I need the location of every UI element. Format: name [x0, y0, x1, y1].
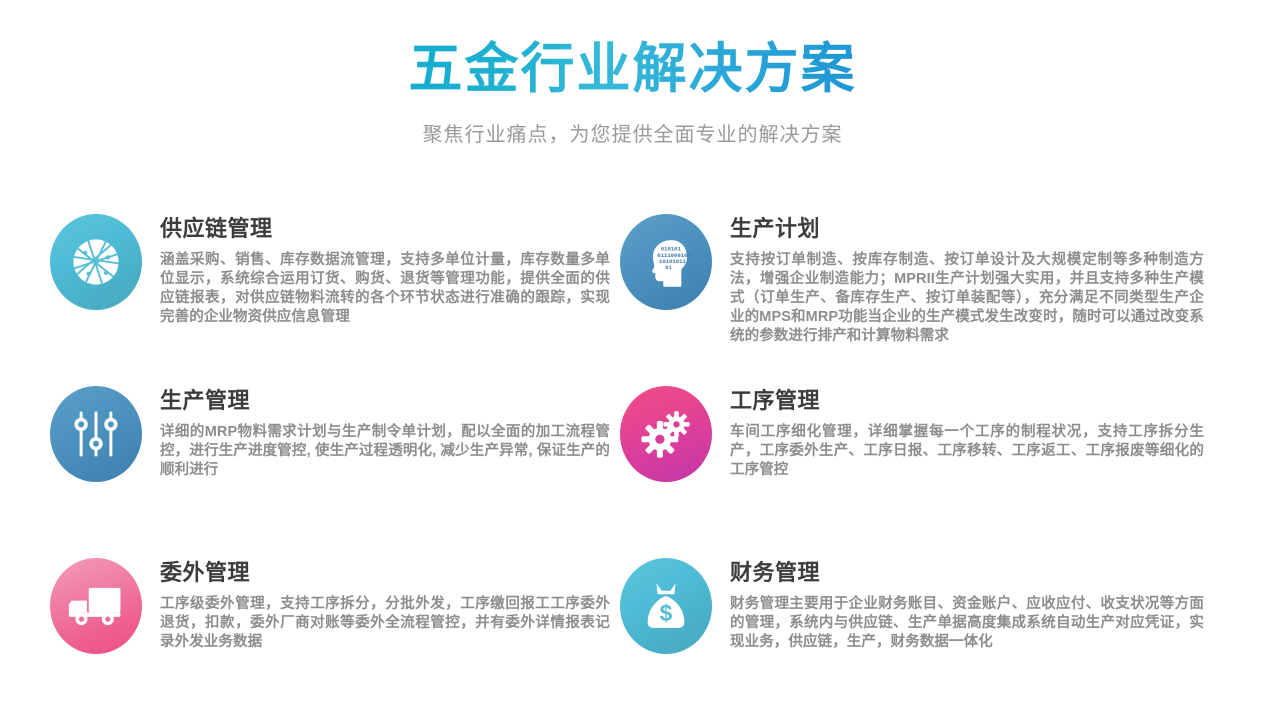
- page-subtitle: 聚焦行业痛点，为您提供全面专业的解决方案: [0, 118, 1265, 147]
- sliders-icon: [50, 386, 142, 482]
- card-body: 供应链管理 涵盖采购、销售、库存数据流管理，支持多单位计量，库存数量多单位显示，…: [142, 210, 610, 327]
- svg-text:10101011: 10101011: [659, 258, 686, 265]
- card-title: 财务管理: [730, 560, 1204, 586]
- solution-card-process-mgmt[interactable]: 工序管理 车间工序细化管理，详细掌握每一个工序的制程状况，支持工序拆分生产，工序…: [620, 368, 1235, 540]
- card-body: 财务管理 财务管理主要用于企业财务账目、资金账户、应收应付、收支状况等方面的管理…: [712, 554, 1204, 652]
- solution-card-supply-chain[interactable]: 供应链管理 涵盖采购、销售、库存数据流管理，支持多单位计量，库存数量多单位显示，…: [0, 196, 610, 368]
- card-title: 工序管理: [730, 388, 1204, 414]
- card-body: 生产计划 支持按订单制造、按库存制造、按订单设计及大规模定制等多种制造方法，增强…: [712, 210, 1204, 346]
- card-description: 车间工序细化管理，详细掌握每一个工序的制程状况，支持工序拆分生产，工序委外生产、…: [730, 423, 1204, 480]
- card-body: 工序管理 车间工序细化管理，详细掌握每一个工序的制程状况，支持工序拆分生产，工序…: [712, 382, 1204, 480]
- card-description: 详细的MRP物料需求计划与生产制令单计划，配以全面的加工流程管控，进行生产进度管…: [160, 423, 610, 480]
- svg-text:01: 01: [665, 264, 672, 271]
- head-binary-icon: 010101 0111000101 10101011 01: [620, 214, 712, 310]
- svg-text:$: $: [660, 600, 673, 626]
- card-description: 支持按订单制造、按库存制造、按订单设计及大规模定制等多种制造方法，增强企业制造能…: [730, 251, 1204, 346]
- solution-card-outsourcing[interactable]: 委外管理 工序级委外管理，支持工序拆分，分批外发，工序缴回报工工序委外退货，扣款…: [0, 540, 610, 710]
- slide-header: 五金行业解决方案 聚焦行业痛点，为您提供全面专业的解决方案: [0, 0, 1265, 147]
- solution-card-grid: 供应链管理 涵盖采购、销售、库存数据流管理，支持多单位计量，库存数量多单位显示，…: [0, 196, 1265, 710]
- card-body: 委外管理 工序级委外管理，支持工序拆分，分批外发，工序缴回报工工序委外退货，扣款…: [142, 554, 610, 652]
- gears-icon: [620, 386, 712, 482]
- card-description: 工序级委外管理，支持工序拆分，分批外发，工序缴回报工工序委外退货，扣款，委外厂商…: [160, 595, 610, 652]
- solution-card-production-mgmt[interactable]: 生产管理 详细的MRP物料需求计划与生产制令单计划，配以全面的加工流程管控，进行…: [0, 368, 610, 540]
- card-description: 财务管理主要用于企业财务账目、资金账户、应收应付、收支状况等方面的管理，系统内与…: [730, 595, 1204, 652]
- card-title: 供应链管理: [160, 216, 610, 242]
- card-body: 生产管理 详细的MRP物料需求计划与生产制令单计划，配以全面的加工流程管控，进行…: [142, 382, 610, 480]
- solution-card-production-plan[interactable]: 010101 0111000101 10101011 01 生产计划 支持按订单…: [620, 196, 1235, 368]
- card-description: 涵盖采购、销售、库存数据流管理，支持多单位计量，库存数量多单位显示，系统综合运用…: [160, 251, 610, 327]
- solution-card-finance[interactable]: $ 财务管理 财务管理主要用于企业财务账目、资金账户、应收应付、收支状况等方面的…: [620, 540, 1235, 710]
- page-title: 五金行业解决方案: [409, 38, 857, 100]
- money-bag-icon: $: [620, 558, 712, 654]
- network-globe-icon: [50, 214, 142, 310]
- card-title: 委外管理: [160, 560, 610, 586]
- truck-icon: [50, 558, 142, 654]
- slide-root: 五金行业解决方案 聚焦行业痛点，为您提供全面专业的解决方案: [0, 0, 1265, 710]
- card-title: 生产管理: [160, 388, 610, 414]
- card-title: 生产计划: [730, 216, 1204, 242]
